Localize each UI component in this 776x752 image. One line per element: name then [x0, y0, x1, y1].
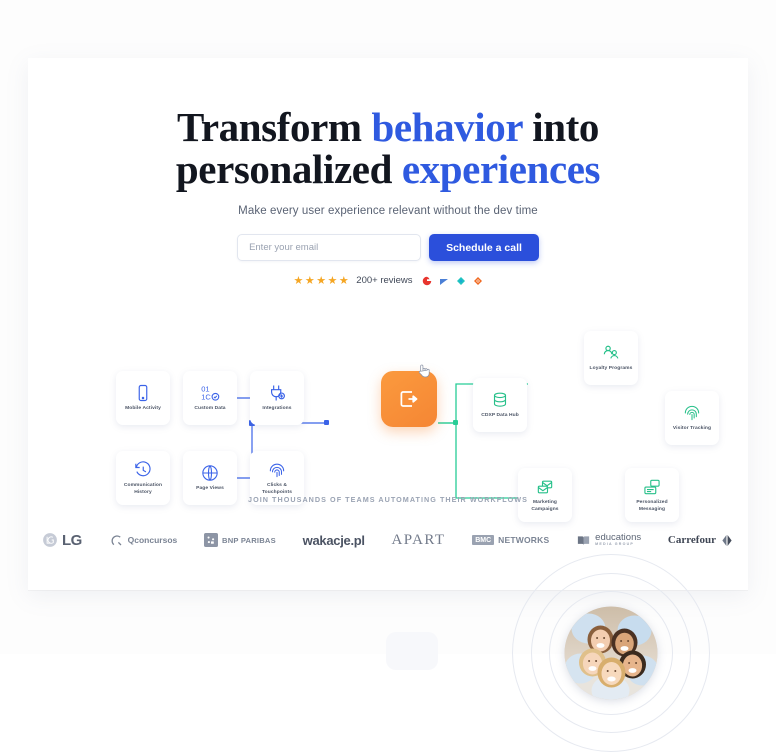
source-card-label: Clicks & Touchpoints [250, 483, 304, 496]
logo-apart-text: APART [392, 532, 446, 549]
outcome-card-label: Visitor Tracking [671, 426, 713, 432]
connector-node [453, 420, 458, 425]
hero-section: Transform behavior into personalized exp… [28, 58, 748, 287]
headline-accent-1: behavior [371, 104, 522, 150]
headline-accent-2: experiences [402, 146, 600, 192]
page-title: Transform behavior into personalized exp… [28, 58, 748, 190]
source-card-label: Communication History [116, 483, 170, 496]
binary-data-icon: 01 1C [200, 383, 220, 403]
logo-lg: LG [42, 532, 82, 549]
source-card-label: Mobile Activity [123, 406, 163, 412]
outcome-card-label: CDXP Data Hub [479, 413, 521, 419]
logo-educations-sub-text: MEDIA GROUP [595, 543, 641, 547]
workflow-diagram: Mobile Activity 01 1C Custom Data Integr… [28, 283, 748, 523]
logo-qconcursos-text: Qconcursos [128, 535, 178, 545]
logo-apart: APART [392, 532, 446, 549]
source-card-label: Page Views [194, 486, 226, 492]
outcome-card-loyalty-programs[interactable]: Loyalty Programs [584, 331, 638, 385]
logo-carrefour: Carrefour [668, 534, 734, 547]
outcome-card-label: Loyalty Programs [588, 366, 635, 372]
customer-photo [565, 607, 658, 700]
mobile-phone-icon [133, 383, 153, 403]
hub-shadow-plate [386, 632, 438, 670]
clock-history-icon [133, 460, 153, 480]
hand-cursor-icon [416, 362, 432, 380]
logo-bmc-networks-mark-text: BMC [472, 535, 494, 545]
cta-row: Schedule a call [28, 234, 748, 261]
open-book-icon [576, 533, 591, 548]
bnp-paribas-mark-icon [204, 533, 218, 547]
fingerprint-icon [267, 460, 287, 480]
hero-subtitle: Make every user experience relevant with… [28, 205, 748, 217]
logo-lg-text: LG [62, 532, 82, 549]
logo-bnp-paribas: BNP PARIBAS [204, 533, 276, 547]
source-card-mobile-activity[interactable]: Mobile Activity [116, 371, 170, 425]
logo-carrefour-text: Carrefour [668, 534, 716, 546]
source-card-label: Custom Data [192, 406, 227, 412]
landing-page-screenshot: Transform behavior into personalized exp… [0, 0, 776, 654]
headline-text-3: personalized [176, 146, 402, 192]
logo-bmc-networks-text: NETWORKS [498, 535, 549, 545]
logo-wakacje-pl-text: wakacje.pl [303, 533, 365, 548]
logo-wakacje-pl: wakacje.pl [303, 533, 365, 548]
outcome-rings [513, 555, 709, 751]
connector-node [324, 420, 329, 425]
database-icon [490, 390, 510, 410]
headline-text-1: Transform [177, 104, 372, 150]
logo-bmc-networks: BMC NETWORKS [472, 535, 549, 545]
email-field[interactable] [237, 234, 421, 261]
people-group-icon [601, 343, 621, 363]
lg-mark-icon [42, 532, 58, 548]
social-proof-label: JOIN THOUSANDS OF TEAMS AUTOMATING THEIR… [28, 495, 748, 504]
outcome-card-visitor-tracking[interactable]: Visitor Tracking [665, 391, 719, 445]
customer-logo-strip: LG Qconcursos BNP PARIBAS wakacje.pl AP [28, 520, 748, 560]
outcome-card-cdxp-data-hub[interactable]: CDXP Data Hub [473, 378, 527, 432]
globe-icon [200, 463, 220, 483]
source-card-label: Integrations [260, 406, 293, 412]
source-card-integrations[interactable]: Integrations [250, 371, 304, 425]
logo-educations-text: educations [595, 533, 641, 543]
logo-qconcursos: Qconcursos [109, 533, 178, 548]
headline-text-2: into [522, 104, 599, 150]
carrefour-mark-icon [720, 534, 734, 547]
svg-text:1C: 1C [201, 393, 211, 402]
logo-bnp-paribas-text: BNP PARIBAS [222, 536, 276, 545]
qconcursos-mark-icon [109, 533, 124, 548]
people-photo-illustration [565, 607, 658, 700]
source-card-custom-data[interactable]: 01 1C Custom Data [183, 371, 237, 425]
plug-icon [267, 383, 287, 403]
hero-panel: Transform behavior into personalized exp… [28, 58, 748, 590]
logo-educations: educations MEDIA GROUP [576, 533, 641, 548]
schedule-call-button[interactable]: Schedule a call [429, 234, 539, 261]
fingerprint-scan-icon [682, 403, 702, 423]
data-export-icon [397, 387, 421, 411]
